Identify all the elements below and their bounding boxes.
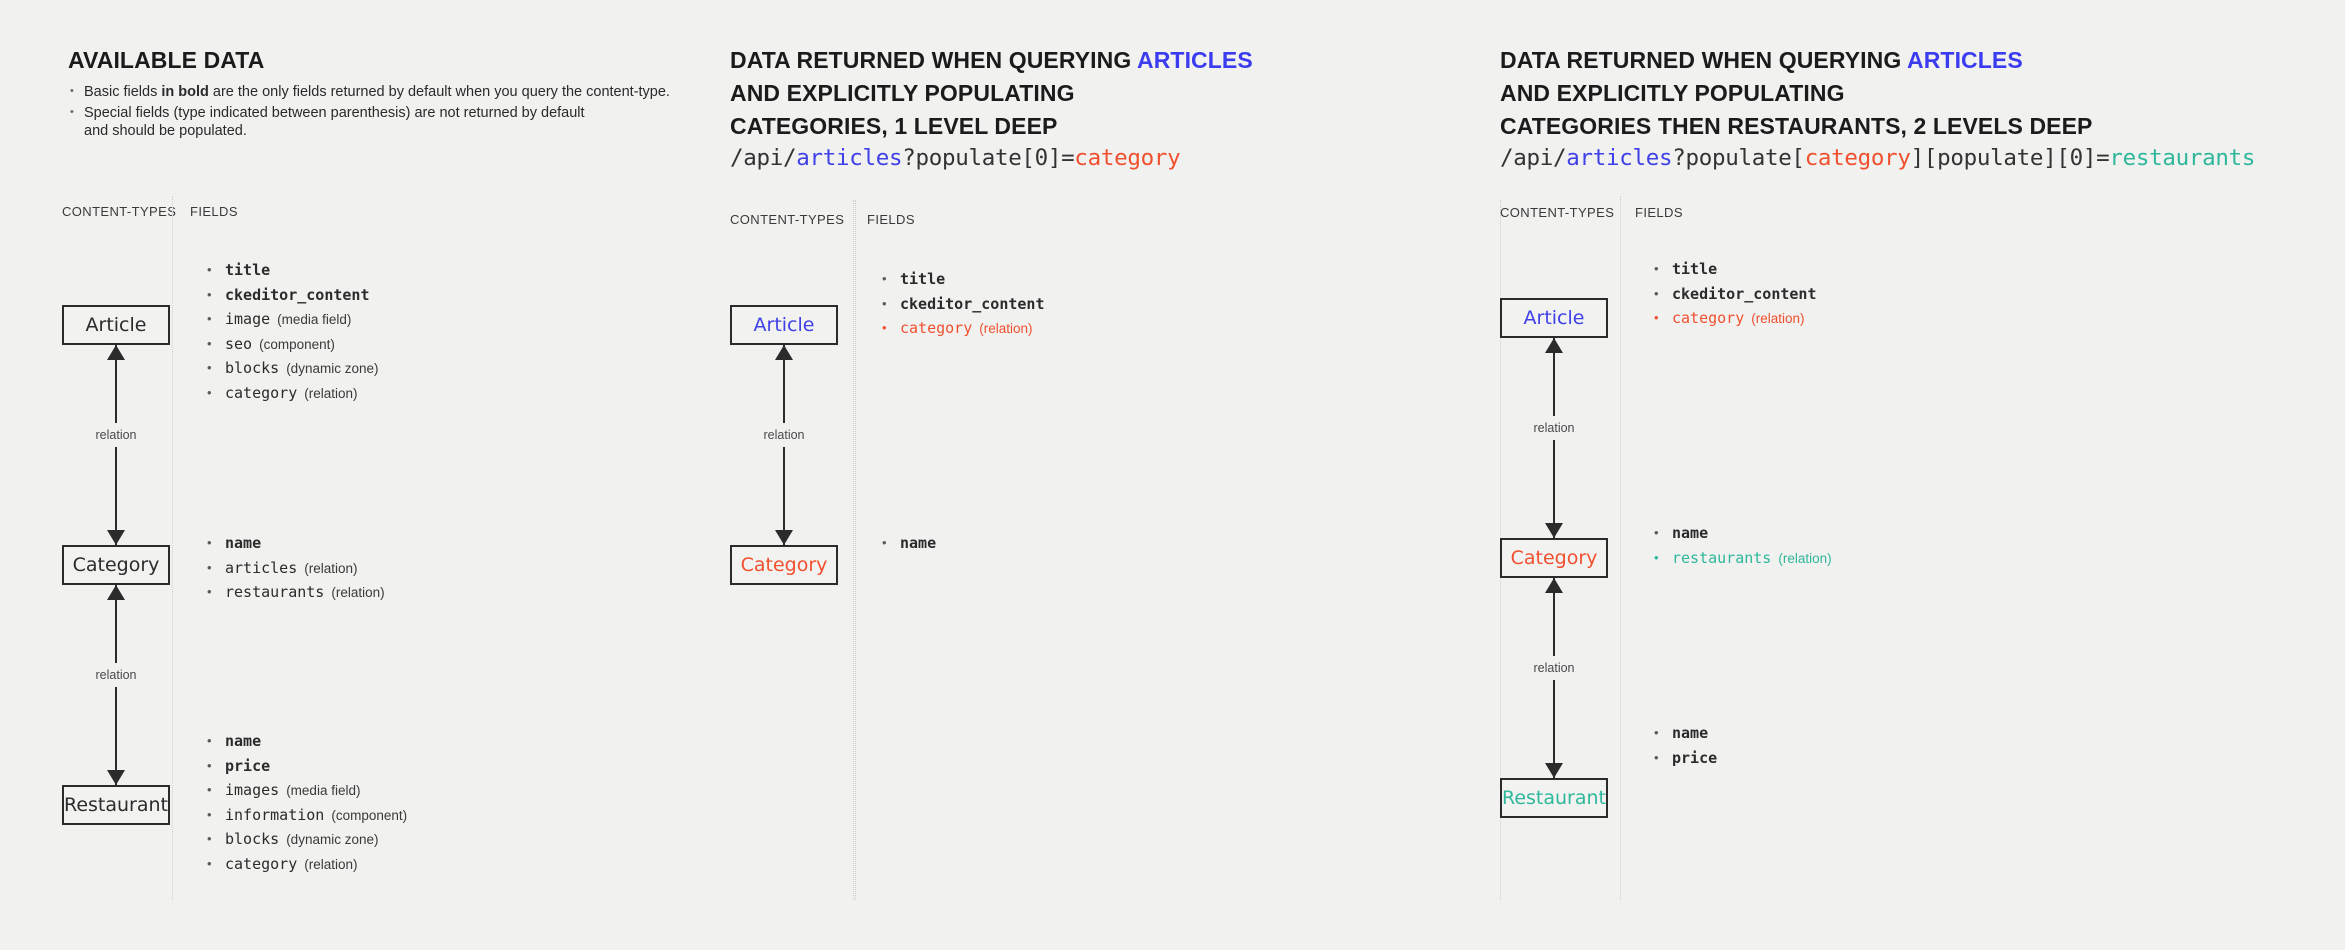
field-list-category: name: [880, 532, 943, 557]
heading-line-1: DATA RETURNED WHEN QUERYING ARTICLES: [730, 44, 1253, 77]
field-item: name: [205, 532, 385, 556]
field-item: name: [1652, 522, 1832, 546]
intro-bullet-list: Basic fields in bold are the only fields…: [68, 83, 670, 143]
intro-bullet-item: Basic fields in bold are the only fields…: [68, 83, 670, 102]
arrow-label-relation: relation: [1530, 416, 1579, 440]
field-item: price: [205, 755, 407, 779]
relation-arrow-category-restaurant: relation: [1500, 578, 1608, 778]
column-label-content-types: CONTENT-TYPES: [730, 212, 844, 227]
field-list-article: title ckeditor_content category(relation…: [880, 268, 1052, 342]
field-item: category(relation): [1652, 307, 1824, 331]
relation-arrow-article-category: relation: [730, 345, 838, 545]
relation-arrow-article-category: relation: [62, 345, 170, 545]
panel-populate-2-levels: DATA RETURNED WHEN QUERYING ARTICLES AND…: [1500, 0, 2345, 950]
field-item: name: [880, 532, 943, 556]
field-item: articles(relation): [205, 557, 385, 581]
api-segment: /api/: [1500, 145, 1566, 171]
field-list-article: title ckeditor_content category(relation…: [1652, 258, 1824, 332]
panel-populate-1-level: DATA RETURNED WHEN QUERYING ARTICLES AND…: [855, 0, 1500, 950]
column-label-content-types: CONTENT-TYPES: [1500, 205, 1614, 220]
panel-available-data: AVAILABLE DATA Basic fields in bold are …: [0, 0, 855, 950]
field-item: name: [205, 730, 407, 754]
content-type-box-category[interactable]: Category: [62, 545, 170, 585]
field-list-category: name restaurants(relation): [1652, 522, 1832, 571]
intro-bullet-text-1: Basic fields in bold are the only fields…: [84, 84, 670, 100]
inner-divider: [853, 200, 854, 900]
panel-2-heading: DATA RETURNED WHEN QUERYING ARTICLES AND…: [730, 44, 1253, 143]
arrow-label-relation: relation: [760, 423, 809, 447]
field-item: information(component): [205, 804, 407, 828]
column-label-fields: FIELDS: [867, 212, 915, 227]
arrowhead-up-icon: [1545, 578, 1563, 593]
intro-bullet-text-2: Special fields (type indicated between p…: [84, 105, 585, 140]
intro-bullet-item: Special fields (type indicated between p…: [68, 104, 670, 141]
api-segment: /api/: [730, 145, 796, 171]
field-item: image(media field): [205, 308, 378, 332]
arrowhead-up-icon: [775, 345, 793, 360]
arrowhead-down-icon: [107, 530, 125, 545]
field-list-category: name articles(relation) restaurants(rela…: [205, 532, 385, 606]
field-list-restaurant: name price images(media field) informati…: [205, 730, 407, 877]
arrowhead-down-icon: [107, 770, 125, 785]
api-segment-articles: articles: [1566, 145, 1672, 171]
content-type-box-article[interactable]: Article: [62, 305, 170, 345]
heading-line-2: AND EXPLICITLY POPULATING: [1500, 77, 2092, 110]
relation-arrow-article-category: relation: [1500, 338, 1608, 538]
page-title: AVAILABLE DATA: [68, 44, 264, 77]
heading-highlight-articles: ARTICLES: [1137, 47, 1253, 73]
field-item: category(relation): [205, 382, 378, 406]
field-item: category(relation): [880, 317, 1052, 341]
field-item: name: [1652, 722, 1724, 746]
api-segment-restaurants: restaurants: [2109, 145, 2255, 171]
field-list-restaurant: name price: [1652, 722, 1724, 771]
inner-divider: [1620, 196, 1621, 900]
api-segment-category: category: [1074, 145, 1180, 171]
api-path-1-level: /api/articles?populate[0]=category: [730, 145, 1180, 171]
arrowhead-down-icon: [1545, 763, 1563, 778]
arrowhead-down-icon: [775, 530, 793, 545]
field-item: ckeditor_content: [880, 293, 1052, 317]
heading-line-1: DATA RETURNED WHEN QUERYING ARTICLES: [1500, 44, 2092, 77]
api-segment: ][populate][0]=: [1911, 145, 2110, 171]
api-segment-category: category: [1805, 145, 1911, 171]
content-type-box-category[interactable]: Category: [1500, 538, 1608, 578]
relation-arrow-category-restaurant: relation: [62, 585, 170, 785]
arrowhead-up-icon: [107, 585, 125, 600]
arrowhead-up-icon: [107, 345, 125, 360]
heading-line-2: AND EXPLICITLY POPULATING: [730, 77, 1253, 110]
field-list-article: title ckeditor_content image(media field…: [205, 259, 378, 406]
field-item: title: [1652, 258, 1824, 282]
content-type-box-article[interactable]: Article: [730, 305, 838, 345]
field-item: title: [880, 268, 1052, 292]
field-item: blocks(dynamic zone): [205, 828, 407, 852]
heading-line-3: CATEGORIES, 1 LEVEL DEEP: [730, 110, 1253, 143]
column-label-content-types: CONTENT-TYPES: [62, 204, 176, 219]
field-item: restaurants(relation): [205, 581, 385, 605]
field-item: restaurants(relation): [1652, 547, 1832, 571]
api-segment-articles: articles: [796, 145, 902, 171]
inner-divider: [172, 196, 173, 900]
field-item: ckeditor_content: [205, 284, 378, 308]
infographic-canvas: AVAILABLE DATA Basic fields in bold are …: [0, 0, 2345, 950]
field-item: category(relation): [205, 853, 407, 877]
arrowhead-down-icon: [1545, 523, 1563, 538]
api-path-2-levels: /api/articles?populate[category][populat…: [1500, 145, 2255, 171]
field-item: blocks(dynamic zone): [205, 357, 378, 381]
field-item: images(media field): [205, 779, 407, 803]
panel-3-heading: DATA RETURNED WHEN QUERYING ARTICLES AND…: [1500, 44, 2092, 143]
content-type-box-restaurant[interactable]: Restaurant: [1500, 778, 1608, 818]
arrowhead-up-icon: [1545, 338, 1563, 353]
arrow-label-relation: relation: [92, 423, 141, 447]
column-label-fields: FIELDS: [190, 204, 238, 219]
api-segment: ?populate[: [1672, 145, 1804, 171]
content-type-box-article[interactable]: Article: [1500, 298, 1608, 338]
arrow-label-relation: relation: [1530, 656, 1579, 680]
heading-line-3: CATEGORIES THEN RESTAURANTS, 2 LEVELS DE…: [1500, 110, 2092, 143]
content-type-box-category[interactable]: Category: [730, 545, 838, 585]
content-type-box-restaurant[interactable]: Restaurant: [62, 785, 170, 825]
field-item: title: [205, 259, 378, 283]
heading-highlight-articles: ARTICLES: [1907, 47, 2023, 73]
field-item: ckeditor_content: [1652, 283, 1824, 307]
field-item: price: [1652, 747, 1724, 771]
api-segment: ?populate[0]=: [902, 145, 1074, 171]
field-item: seo(component): [205, 333, 378, 357]
arrow-label-relation: relation: [92, 663, 141, 687]
column-label-fields: FIELDS: [1635, 205, 1683, 220]
